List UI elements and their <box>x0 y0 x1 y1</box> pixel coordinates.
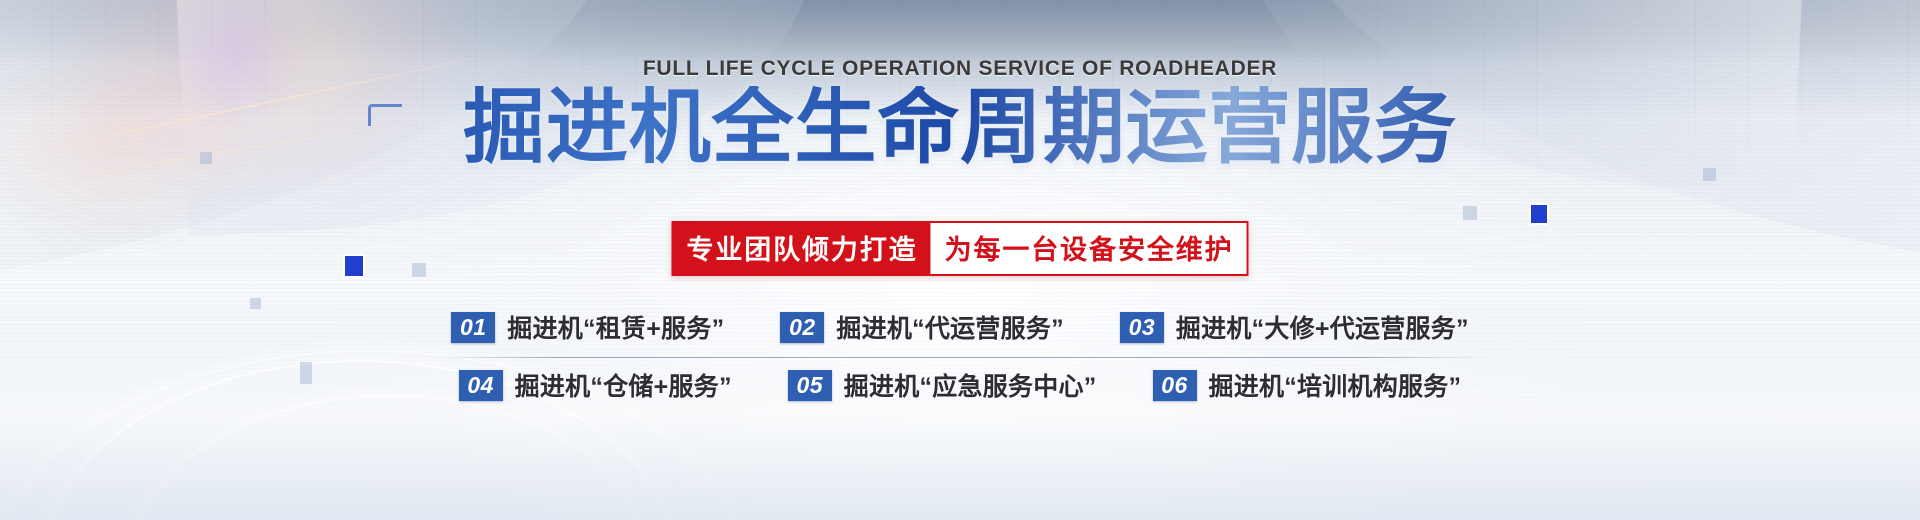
service-row-2: 04 掘进机“仓储+服务” 05 掘进机“应急服务中心” 06 掘进机“培训机构… <box>380 358 1540 412</box>
service-item-01[interactable]: 01 掘进机“租赁+服务” <box>451 309 724 345</box>
service-item-03[interactable]: 03 掘进机“大修+代运营服务” <box>1120 309 1469 345</box>
service-item-05[interactable]: 05 掘进机“应急服务中心” <box>788 367 1097 403</box>
english-subtitle: FULL LIFE CYCLE OPERATION SERVICE OF ROA… <box>0 57 1920 81</box>
roadheader-promo-banner: FULL LIFE CYCLE OPERATION SERVICE OF ROA… <box>0 0 1920 520</box>
service-label-05: 掘进机“应急服务中心” <box>844 367 1097 403</box>
banner-content: FULL LIFE CYCLE OPERATION SERVICE OF ROA… <box>0 0 1920 520</box>
tagline-right: 为每一台设备安全维护 <box>931 223 1247 274</box>
service-item-06[interactable]: 06 掘进机“培训机构服务” <box>1153 367 1462 403</box>
service-label-01: 掘进机“租赁+服务” <box>507 309 724 345</box>
service-label-04: 掘进机“仓储+服务” <box>515 367 732 403</box>
service-number-02: 02 <box>780 312 824 343</box>
service-item-04[interactable]: 04 掘进机“仓储+服务” <box>459 367 732 403</box>
service-label-02: 掘进机“代运营服务” <box>836 309 1064 345</box>
service-number-03: 03 <box>1120 312 1164 343</box>
service-label-06: 掘进机“培训机构服务” <box>1209 367 1462 403</box>
tagline-left: 专业团队倾力打造 <box>673 223 930 274</box>
service-item-02[interactable]: 02 掘进机“代运营服务” <box>780 309 1064 345</box>
page-title: 掘进机全生命周期运营服务 <box>0 86 1920 170</box>
service-number-06: 06 <box>1153 370 1197 401</box>
service-number-04: 04 <box>459 370 503 401</box>
tagline-strap: 专业团队倾力打造 为每一台设备安全维护 <box>671 221 1248 276</box>
service-list: 01 掘进机“租赁+服务” 02 掘进机“代运营服务” 03 掘进机“大修+代运… <box>380 300 1540 412</box>
service-number-05: 05 <box>788 370 832 401</box>
service-row-1: 01 掘进机“租赁+服务” 02 掘进机“代运营服务” 03 掘进机“大修+代运… <box>380 300 1540 354</box>
service-number-01: 01 <box>451 312 495 343</box>
service-label-03: 掘进机“大修+代运营服务” <box>1176 309 1469 345</box>
